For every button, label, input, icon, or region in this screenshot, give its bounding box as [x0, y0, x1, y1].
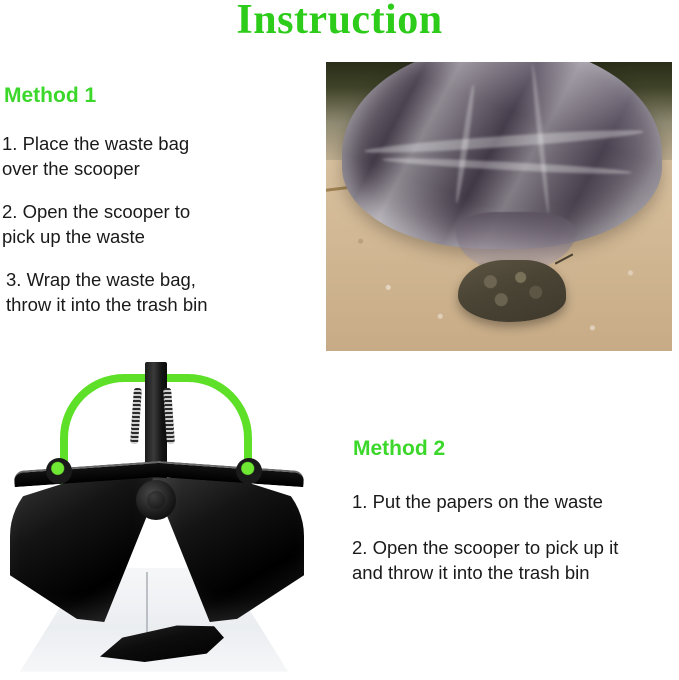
- page-title: Instruction: [0, 0, 679, 42]
- method-2-step-1: 1. Put the papers on the waste: [352, 489, 672, 514]
- method-2-heading: Method 2: [353, 437, 445, 461]
- bag-crease: [364, 126, 644, 157]
- waste-bag-over-scooper-photo: [326, 62, 672, 351]
- scooper-product-photo: [8, 362, 338, 680]
- instruction-page: Instruction Method 1 1. Place the waste …: [0, 0, 679, 680]
- method-1-step-2: 2. Open the scooper to pick up the waste: [2, 199, 252, 249]
- scooper-pivot: [136, 480, 176, 520]
- method-1-step-3: 3. Wrap the waste bag, throw it into the…: [6, 267, 266, 317]
- method-1-step-1: 1. Place the waste bag over the scooper: [2, 131, 252, 181]
- paper-crease: [146, 572, 148, 638]
- scooper-hinge-right: [236, 458, 262, 484]
- scooper-hinge-left: [46, 458, 72, 484]
- method-1-heading: Method 1: [4, 84, 96, 108]
- bag-crease: [382, 155, 632, 176]
- pet-waste: [458, 260, 566, 322]
- method-2-step-2: 2. Open the scooper to pick up it and th…: [352, 535, 677, 585]
